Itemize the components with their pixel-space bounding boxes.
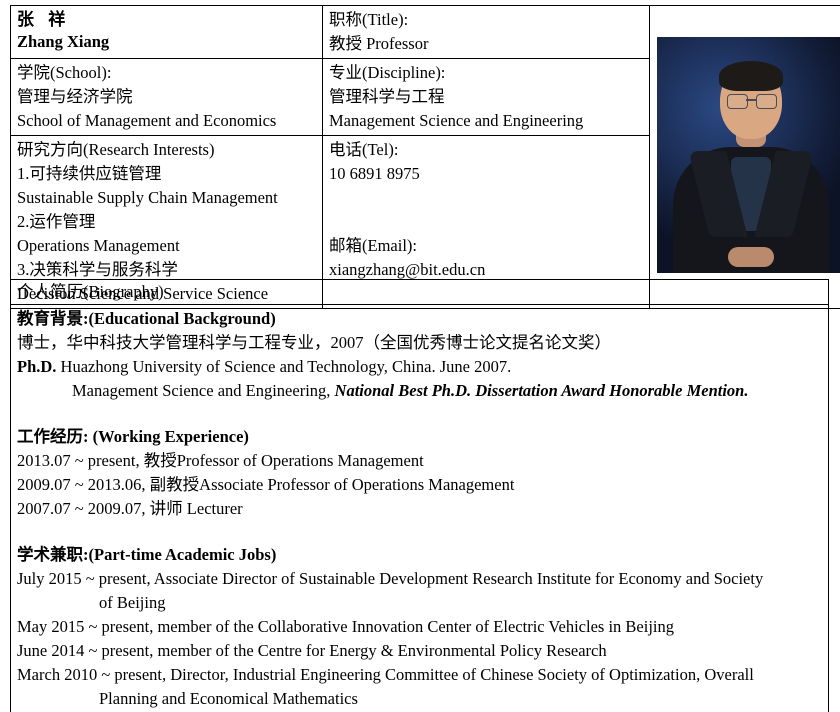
biography-body: 教育背景:(Educational Background) 博士，华中科技大学管… bbox=[11, 305, 829, 712]
name-chinese: 张 祥 bbox=[17, 8, 317, 31]
section-gap-2 bbox=[17, 521, 822, 543]
cell-name: 张 祥 Zhang Xiang bbox=[11, 6, 323, 59]
biography-table: 个人简历(Biography) 教育背景:(Educational Backgr… bbox=[10, 279, 829, 712]
education-degree-detail: Huazhong University of Science and Techn… bbox=[56, 357, 511, 376]
discipline-english: Management Science and Engineering bbox=[329, 109, 644, 133]
table-row-biography-body: 教育背景:(Educational Background) 博士，华中科技大学管… bbox=[11, 305, 829, 712]
school-chinese: 管理与经济学院 bbox=[17, 85, 317, 109]
parttime-item-2: May 2015 ~ present, member of the Collab… bbox=[17, 615, 822, 639]
email-label: 邮箱(Email): bbox=[329, 234, 644, 258]
photo-glasses-right-shape bbox=[756, 94, 777, 109]
education-line-english: Ph.D. Huazhong University of Science and… bbox=[17, 355, 822, 379]
photo-hair-shape bbox=[719, 61, 783, 91]
photo-hands-shape bbox=[728, 247, 774, 267]
title-value: 教授 Professor bbox=[329, 32, 644, 56]
working-item-2: 2009.07 ~ 2013.06, 副教授Associate Professo… bbox=[17, 473, 822, 497]
working-item-3: 2007.07 ~ 2009.07, 讲师 Lecturer bbox=[17, 497, 822, 521]
discipline-label: 专业(Discipline): bbox=[329, 61, 644, 85]
profile-info-table: 张 祥 Zhang Xiang 职称(Title): 教授 Professor bbox=[10, 5, 840, 309]
education-line-chinese: 博士，华中科技大学管理科学与工程专业，2007（全国优秀博士论文提名论文奖） bbox=[17, 331, 822, 355]
education-degree-label: Ph.D. bbox=[17, 357, 56, 376]
parttime-item-4-line-2: Planning and Economical Mathematics bbox=[17, 687, 822, 711]
cell-title: 职称(Title): 教授 Professor bbox=[323, 6, 650, 59]
section-gap-1 bbox=[17, 403, 822, 425]
school-english: School of Management and Economics bbox=[17, 109, 317, 133]
biography-header: 个人简历(Biography) bbox=[11, 280, 829, 305]
discipline-chinese: 管理科学与工程 bbox=[329, 85, 644, 109]
parttime-item-3: June 2014 ~ present, member of the Centr… bbox=[17, 639, 822, 663]
research-item-1: 1.可持续供应链管理 bbox=[17, 162, 317, 186]
contact-spacer-2 bbox=[329, 210, 644, 234]
portrait-photo bbox=[657, 37, 840, 273]
tel-value: 10 6891 8975 bbox=[329, 162, 644, 186]
parttime-item-1-line-1: July 2015 ~ present, Associate Director … bbox=[17, 567, 822, 591]
education-major: Management Science and Engineering, bbox=[72, 381, 335, 400]
parttime-section-title: 学术兼职:(Part-time Academic Jobs) bbox=[17, 543, 822, 567]
document-page: 张 祥 Zhang Xiang 职称(Title): 教授 Professor bbox=[0, 0, 840, 696]
table-row-biography-header: 个人简历(Biography) bbox=[11, 280, 829, 305]
research-item-2: Sustainable Supply Chain Management bbox=[17, 186, 317, 210]
education-line-award: Management Science and Engineering, Nati… bbox=[17, 379, 822, 403]
working-item-1: 2013.07 ~ present, 教授Professor of Operat… bbox=[17, 449, 822, 473]
title-label: 职称(Title): bbox=[329, 8, 644, 32]
cell-photo bbox=[650, 6, 840, 309]
photo-glasses-bridge-shape bbox=[746, 99, 756, 101]
tel-label: 电话(Tel): bbox=[329, 138, 644, 162]
table-row-name-title: 张 祥 Zhang Xiang 职称(Title): 教授 Professor bbox=[11, 6, 840, 59]
education-award: National Best Ph.D. Dissertation Award H… bbox=[335, 381, 749, 400]
parttime-item-1-line-2: of Beijing bbox=[17, 591, 822, 615]
photo-glasses-left-shape bbox=[727, 94, 748, 109]
education-section-title: 教育背景:(Educational Background) bbox=[17, 307, 822, 331]
parttime-item-4-line-1: March 2010 ~ present, Director, Industri… bbox=[17, 663, 822, 687]
name-english: Zhang Xiang bbox=[17, 31, 317, 53]
working-section-title: 工作经历: (Working Experience) bbox=[17, 425, 822, 449]
cell-school: 学院(School): 管理与经济学院 School of Management… bbox=[11, 59, 323, 136]
school-label: 学院(School): bbox=[17, 61, 317, 85]
photo-container bbox=[650, 6, 840, 278]
research-item-4: Operations Management bbox=[17, 234, 317, 258]
research-label: 研究方向(Research Interests) bbox=[17, 138, 317, 162]
cell-discipline: 专业(Discipline): 管理科学与工程 Management Scien… bbox=[323, 59, 650, 136]
research-item-3: 2.运作管理 bbox=[17, 210, 317, 234]
contact-spacer bbox=[329, 186, 644, 210]
